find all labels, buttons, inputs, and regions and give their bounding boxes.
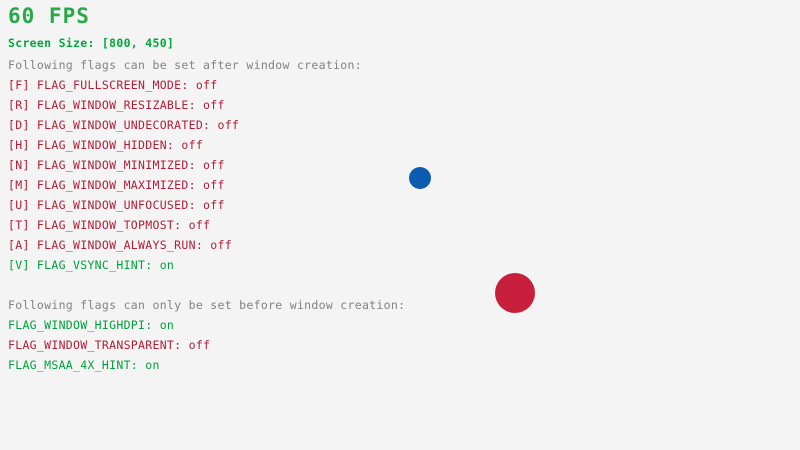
flag-line-flag-window-resizable[interactable]: [R] FLAG_WINDOW_RESIZABLE: off bbox=[8, 100, 225, 112]
flag-line-flag-window-minimized[interactable]: [N] FLAG_WINDOW_MINIMIZED: off bbox=[8, 160, 225, 172]
creation-flags-heading: Following flags can only be set before w… bbox=[8, 300, 405, 312]
small-blue-ball bbox=[409, 167, 431, 189]
flag-line-flag-window-topmost[interactable]: [T] FLAG_WINDOW_TOPMOST: off bbox=[8, 220, 210, 232]
large-red-ball bbox=[495, 273, 535, 313]
flag-line-flag-window-highdpi: FLAG_WINDOW_HIGHDPI: on bbox=[8, 320, 174, 332]
hud-overlay: 60 FPS Screen Size: [800, 450] Following… bbox=[0, 0, 800, 450]
flag-line-flag-window-undecorated[interactable]: [D] FLAG_WINDOW_UNDECORATED: off bbox=[8, 120, 239, 132]
screen-size-label: Screen Size: [800, 450] bbox=[8, 38, 174, 50]
flag-line-flag-window-hidden[interactable]: [H] FLAG_WINDOW_HIDDEN: off bbox=[8, 140, 203, 152]
flag-line-flag-fullscreen-mode[interactable]: [F] FLAG_FULLSCREEN_MODE: off bbox=[8, 80, 217, 92]
flag-line-flag-window-transparent: FLAG_WINDOW_TRANSPARENT: off bbox=[8, 340, 210, 352]
game-canvas[interactable]: 60 FPS Screen Size: [800, 450] Following… bbox=[0, 0, 800, 450]
fps-counter: 60 FPS bbox=[8, 6, 90, 27]
runtime-flags-heading: Following flags can be set after window … bbox=[8, 60, 362, 72]
flag-line-flag-window-always-run[interactable]: [A] FLAG_WINDOW_ALWAYS_RUN: off bbox=[8, 240, 232, 252]
flag-line-flag-window-unfocused[interactable]: [U] FLAG_WINDOW_UNFOCUSED: off bbox=[8, 200, 225, 212]
flag-line-flag-msaa-4x-hint: FLAG_MSAA_4X_HINT: on bbox=[8, 360, 160, 372]
flag-line-flag-vsync-hint[interactable]: [V] FLAG_VSYNC_HINT: on bbox=[8, 260, 174, 272]
flag-line-flag-window-maximized[interactable]: [M] FLAG_WINDOW_MAXIMIZED: off bbox=[8, 180, 225, 192]
